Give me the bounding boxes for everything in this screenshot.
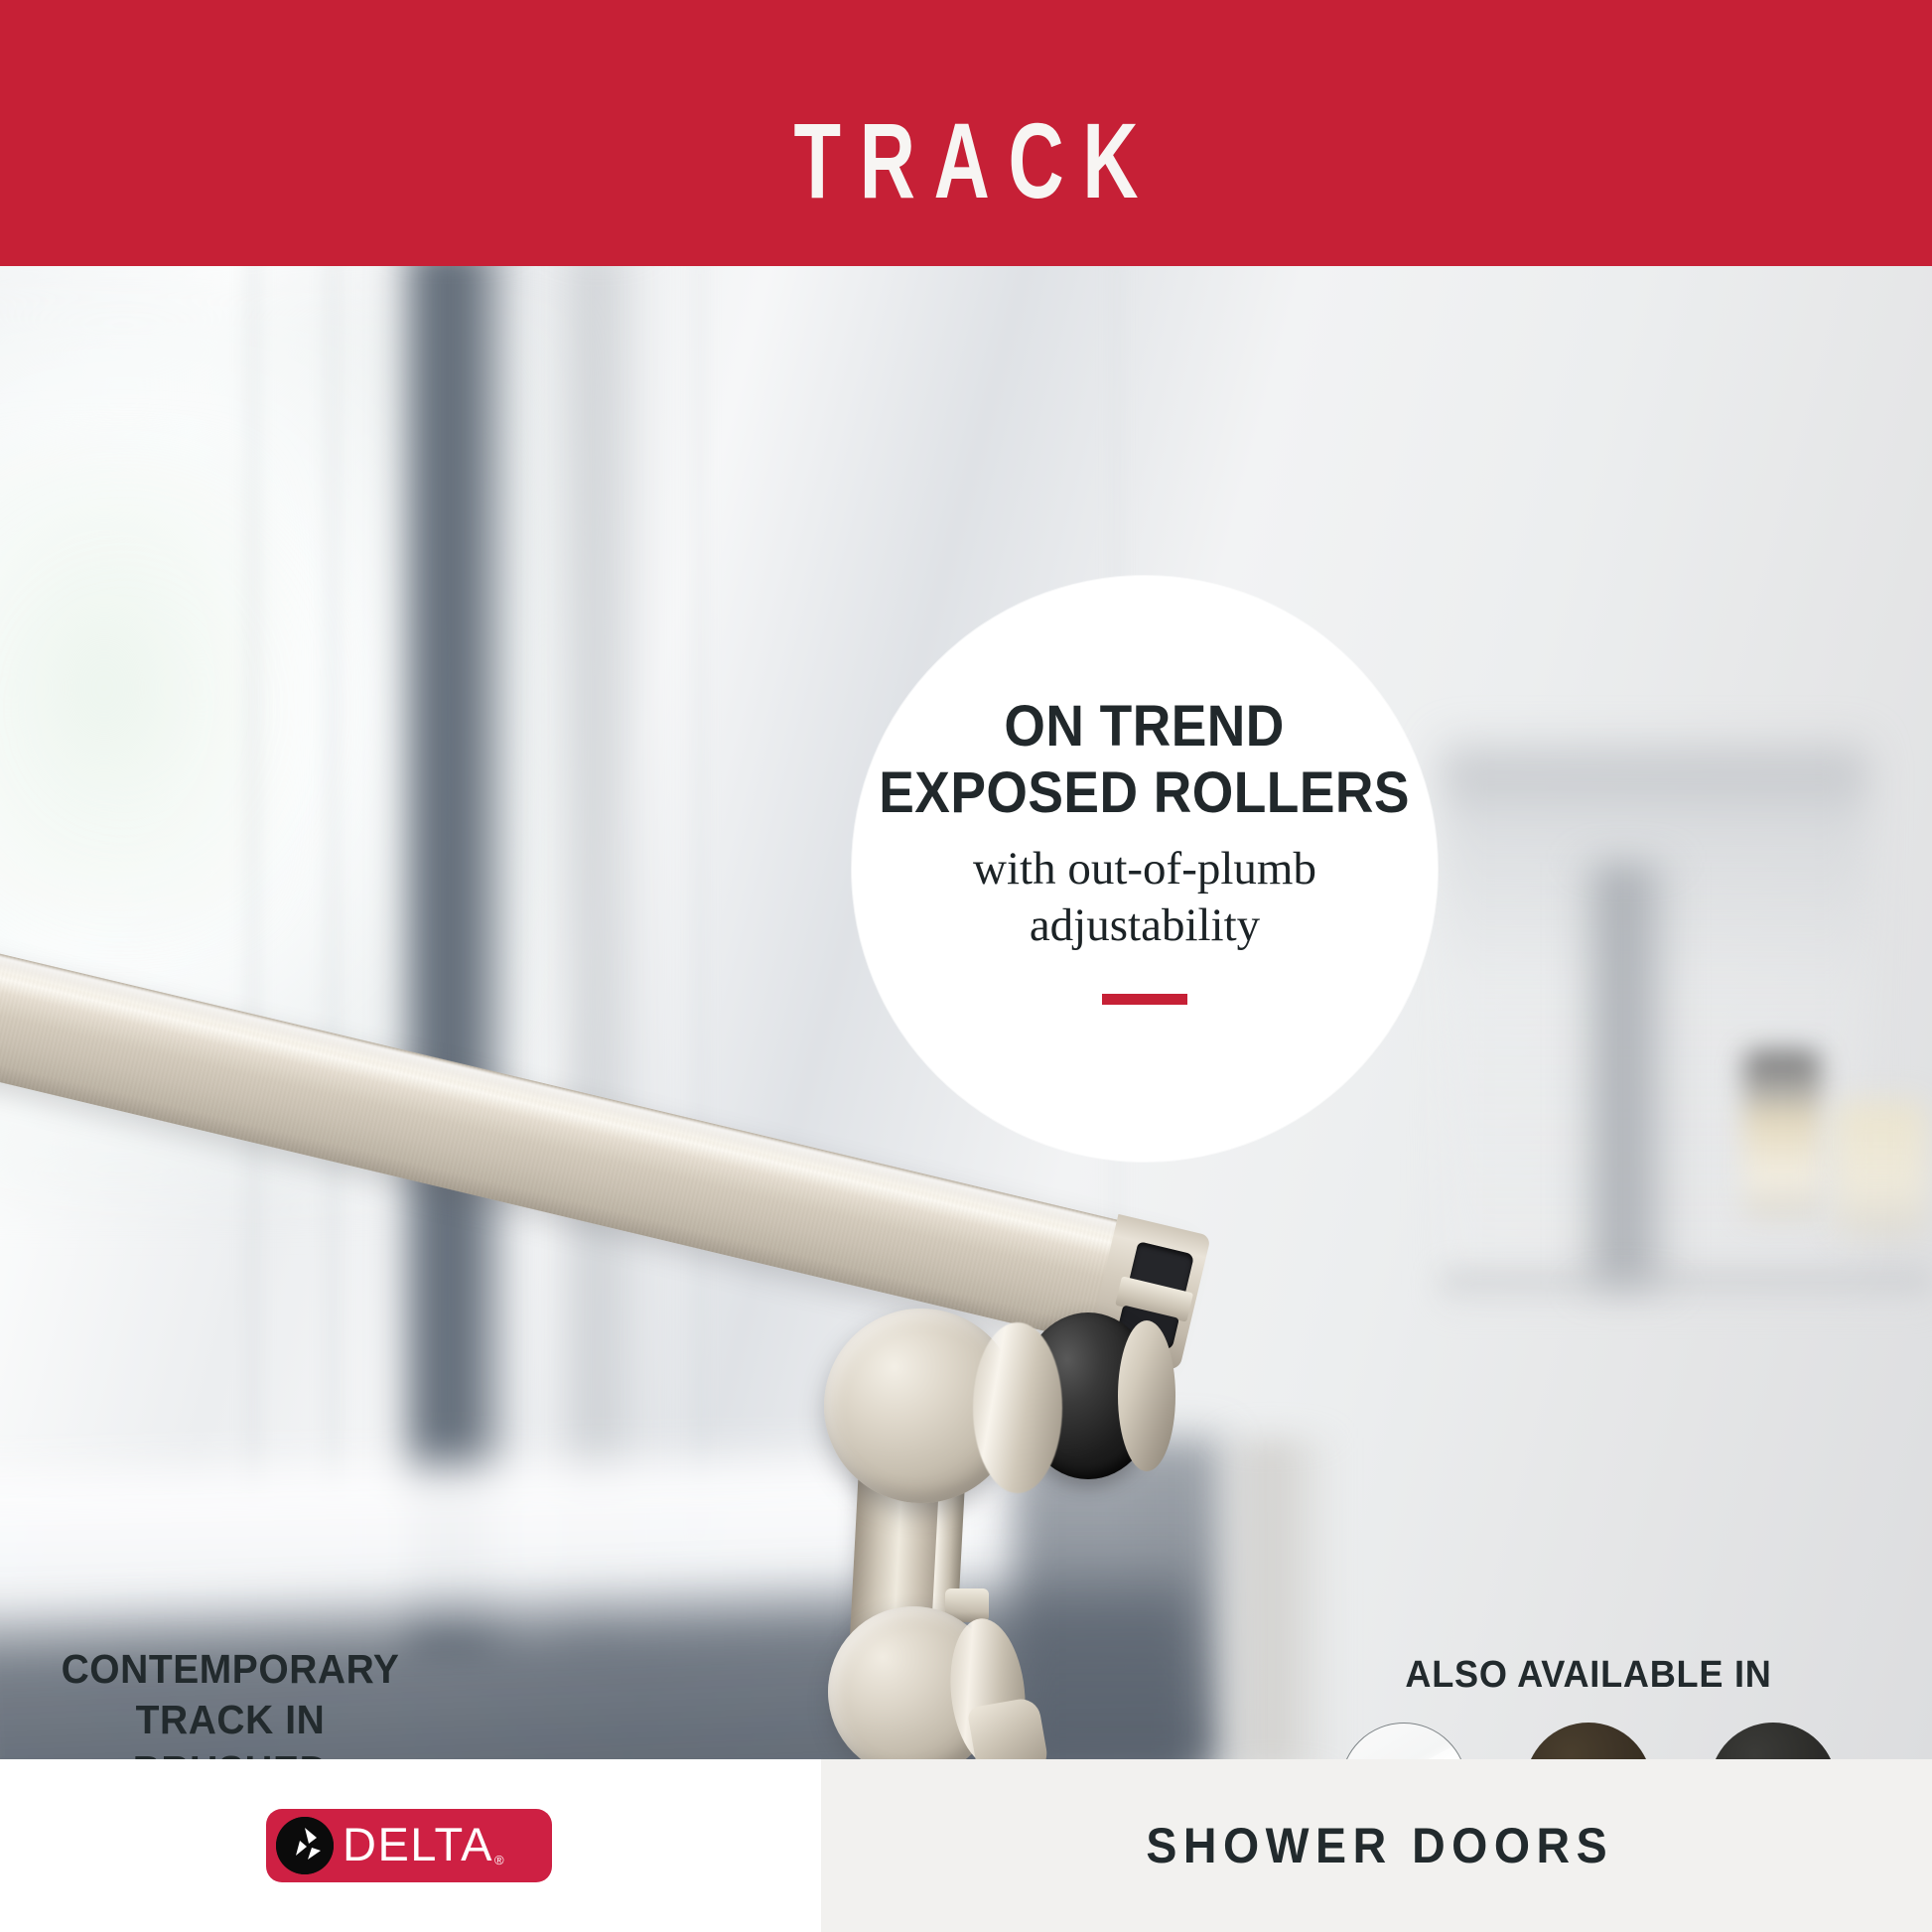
callout-subheadline-line-1: with out-of-plumb [973, 843, 1316, 895]
product-caption-line-2: TRACK IN [136, 1697, 326, 1742]
bottle [1743, 1050, 1821, 1219]
page-title: TRACK [270, 107, 1661, 214]
finish-swatch-matte-black[interactable]: MATTE BLACK [1696, 1723, 1851, 1759]
finish-swatch-row: CHROME BRONZE MATTE BLACK [1320, 1723, 1857, 1759]
delta-triangle-icon [276, 1817, 334, 1874]
callout-headline-line-2: EXPOSED ROLLERS [880, 760, 1411, 825]
finish-swatch-bronze[interactable]: BRONZE [1511, 1723, 1666, 1759]
product-caption-line-3: BRUSHED NICKEL [133, 1747, 329, 1759]
registered-trademark-icon: ® [494, 1853, 504, 1867]
delta-logo[interactable]: DELTA ® [266, 1809, 552, 1882]
bottle [1833, 1100, 1928, 1239]
available-finishes-title: ALSO AVAILABLE IN [1334, 1654, 1844, 1697]
feature-callout-badge: ON TREND EXPOSED ROLLERS with out-of-plu… [852, 576, 1438, 1162]
callout-headline-line-1: ON TREND [1005, 694, 1285, 759]
product-photo: ON TREND EXPOSED ROLLERS with out-of-plu… [0, 266, 1932, 1759]
chrome-swatch-circle[interactable] [1340, 1723, 1467, 1759]
bronze-swatch-circle[interactable] [1525, 1723, 1652, 1759]
callout-subheadline-line-2: adjustability [1030, 899, 1260, 951]
tile-seam [328, 266, 338, 1547]
callout-subheadline: with out-of-plumb adjustability [973, 841, 1316, 955]
product-caption: CONTEMPORARY TRACK IN BRUSHED NICKEL [61, 1644, 400, 1759]
product-marketing-poster: TRACK [0, 0, 1932, 1932]
callout-headline: ON TREND EXPOSED ROLLERS [880, 693, 1411, 827]
available-finishes: ALSO AVAILABLE IN CHROME BRONZE MATTE BL… [1320, 1654, 1857, 1759]
finish-swatch-chrome[interactable]: CHROME [1326, 1723, 1481, 1759]
roller-guide-hook [967, 1696, 1051, 1759]
roller-wheel-cap [1118, 1320, 1175, 1471]
exposed-roller-assembly [824, 1309, 1281, 1759]
niche-post [1577, 862, 1672, 1289]
callout-accent-rule [1102, 994, 1187, 1005]
matte-black-swatch-circle[interactable] [1710, 1723, 1837, 1759]
footer-tagline: SHOWER DOORS [860, 1759, 1893, 1932]
delta-wordmark: DELTA [343, 1821, 493, 1867]
header-banner: TRACK [0, 0, 1932, 266]
product-caption-line-1: CONTEMPORARY [62, 1646, 400, 1692]
shelf-edge [1442, 1271, 1932, 1314]
roller-disc-upper-rim [973, 1322, 1062, 1493]
